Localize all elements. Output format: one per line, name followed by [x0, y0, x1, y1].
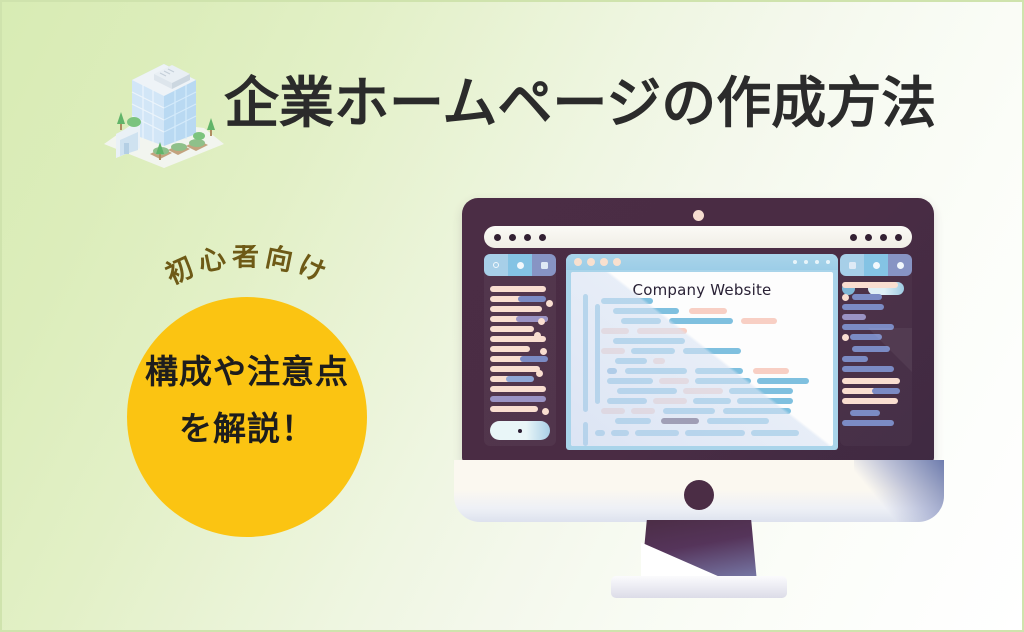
content-bar — [842, 356, 868, 362]
content-bar — [635, 430, 679, 436]
content-bar — [490, 286, 546, 292]
window-dot[interactable] — [804, 260, 808, 264]
content-bar — [518, 296, 546, 302]
power-button[interactable] — [684, 480, 714, 510]
toolbar-right-dots — [850, 234, 902, 241]
content-bar — [669, 318, 733, 324]
content-bar — [693, 398, 731, 404]
browser-titlebar — [566, 254, 838, 270]
content-bar — [613, 338, 685, 344]
content-bar — [695, 368, 743, 374]
window-dot[interactable] — [600, 258, 608, 266]
right-sidebar-header — [840, 254, 912, 276]
content-bar — [842, 420, 894, 426]
content-bar — [685, 430, 745, 436]
content-bar — [661, 418, 699, 424]
content-bar — [737, 398, 793, 404]
content-bar — [601, 348, 625, 354]
content-dot — [538, 318, 545, 325]
content-dot — [540, 348, 547, 355]
content-bar — [631, 348, 675, 354]
content-dot — [536, 370, 543, 377]
monitor-base — [611, 576, 787, 598]
content-bar — [659, 378, 689, 384]
content-bar — [631, 408, 655, 414]
home-icon[interactable] — [840, 254, 864, 276]
content-bar — [723, 408, 791, 414]
content-bar — [637, 328, 687, 334]
content-bar — [490, 366, 540, 372]
content-bar — [842, 304, 884, 310]
right-sidebar-panel — [840, 256, 912, 446]
content-bar — [595, 430, 605, 436]
content-bar — [663, 408, 715, 414]
browser-page: Company Website — [571, 272, 833, 446]
square-icon[interactable] — [532, 254, 556, 276]
content-dot — [546, 300, 553, 307]
content-bar — [490, 306, 542, 312]
toolbar-dot[interactable] — [880, 234, 887, 241]
browser-page-heading: Company Website — [571, 281, 833, 299]
content-bar — [607, 398, 647, 404]
toolbar-dot[interactable] — [850, 234, 857, 241]
content-bar — [695, 378, 751, 384]
badge-arc-label: 初心者向け — [161, 245, 334, 291]
toolbar-dot[interactable] — [539, 234, 546, 241]
content-bar — [872, 388, 900, 394]
content-bar — [607, 368, 617, 374]
window-dot[interactable] — [826, 260, 830, 264]
content-bar — [842, 282, 898, 288]
content-bar — [842, 388, 876, 394]
window-dot[interactable] — [815, 260, 819, 264]
chin-shadow — [854, 460, 944, 522]
content-bar — [601, 328, 629, 334]
screen-top-toolbar — [484, 226, 912, 248]
content-bar — [850, 410, 880, 416]
browser-titlebar-left-dots — [574, 258, 621, 266]
content-bar — [607, 378, 653, 384]
code-gutter-bar — [583, 294, 588, 412]
desktop-monitor-illustration: Company Website — [454, 198, 944, 590]
content-bar — [683, 388, 723, 394]
content-bar — [842, 314, 866, 320]
camera-icon — [693, 210, 704, 221]
toolbar-dot[interactable] — [509, 234, 516, 241]
toolbar-left-dots — [494, 234, 546, 241]
code-gutter-bar — [595, 304, 600, 404]
circle-filled-icon[interactable] — [864, 254, 888, 276]
content-bar — [683, 348, 741, 354]
toolbar-dot[interactable] — [494, 234, 501, 241]
circle-outline-icon[interactable] — [484, 254, 508, 276]
content-bar — [753, 368, 789, 374]
content-dot — [842, 334, 849, 341]
window-dot[interactable] — [613, 258, 621, 266]
content-bar — [625, 368, 687, 374]
monitor-screen-frame: Company Website — [462, 198, 934, 462]
content-bar — [757, 378, 809, 384]
content-dot — [842, 294, 849, 301]
browser-titlebar-right-dots — [793, 260, 830, 264]
content-dot — [534, 332, 541, 339]
circle-filled-icon[interactable] — [508, 254, 532, 276]
content-bar — [520, 356, 548, 362]
content-bar — [653, 398, 687, 404]
content-bar — [842, 378, 900, 384]
circle-filled-icon[interactable] — [888, 254, 912, 276]
content-bar — [729, 388, 793, 394]
content-bar — [490, 406, 538, 412]
toolbar-dot[interactable] — [524, 234, 531, 241]
content-bar — [852, 294, 882, 300]
left-sidebar-panel — [484, 256, 556, 446]
status-pill[interactable] — [490, 421, 550, 440]
content-bar — [741, 318, 777, 324]
badge: 初心者向け 構成や注意点 を解説！ — [115, 245, 380, 535]
content-dot — [542, 408, 549, 415]
left-sidebar-header — [484, 254, 556, 276]
toolbar-dot[interactable] — [865, 234, 872, 241]
badge-text-block: 構成や注意点 を解説！ — [127, 355, 367, 446]
browser-window: Company Website — [566, 254, 838, 450]
badge-line-2: を解説！ — [127, 412, 367, 447]
content-bar — [613, 308, 679, 314]
content-bar — [621, 318, 661, 324]
window-dot[interactable] — [793, 260, 797, 264]
page-title: 企業ホームページの作成方法 — [224, 76, 936, 131]
content-bar — [615, 358, 647, 364]
content-bar — [490, 326, 534, 332]
monitor-chin — [454, 460, 944, 522]
toolbar-dot[interactable] — [895, 234, 902, 241]
content-bar — [842, 398, 898, 404]
content-bar — [611, 430, 629, 436]
poster-canvas: 企業ホームページの作成方法 初心者向け 構成や注意点 を解説！ — [0, 0, 1024, 632]
office-building-illustration — [94, 50, 234, 175]
content-bar — [490, 396, 546, 402]
code-gutter-bar — [583, 422, 588, 446]
window-dot[interactable] — [574, 258, 582, 266]
content-bar — [707, 418, 769, 424]
content-bar — [617, 388, 677, 394]
content-bar — [615, 418, 651, 424]
window-dot[interactable] — [587, 258, 595, 266]
content-bar — [490, 386, 546, 392]
badge-line-1: 構成や注意点 — [127, 355, 367, 390]
content-bar — [601, 298, 653, 304]
content-bar — [490, 346, 530, 352]
content-bar — [751, 430, 799, 436]
content-bar — [601, 408, 625, 414]
content-bar — [506, 376, 534, 382]
panel-shade — [868, 328, 912, 372]
content-bar — [689, 308, 727, 314]
content-bar — [653, 358, 665, 364]
